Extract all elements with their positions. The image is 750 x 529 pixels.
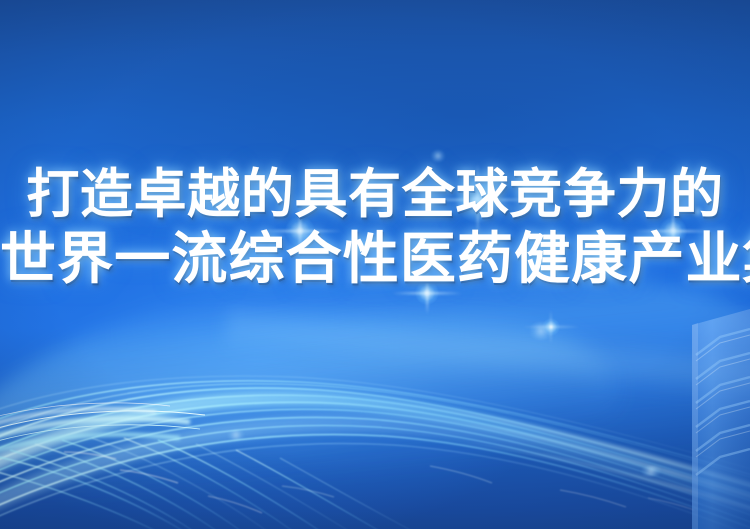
banner-root: 打造卓越的具有全球竞争力的 世界一流综合性医药健康产业集团 bbox=[0, 0, 750, 529]
background-vignette bbox=[0, 0, 750, 529]
